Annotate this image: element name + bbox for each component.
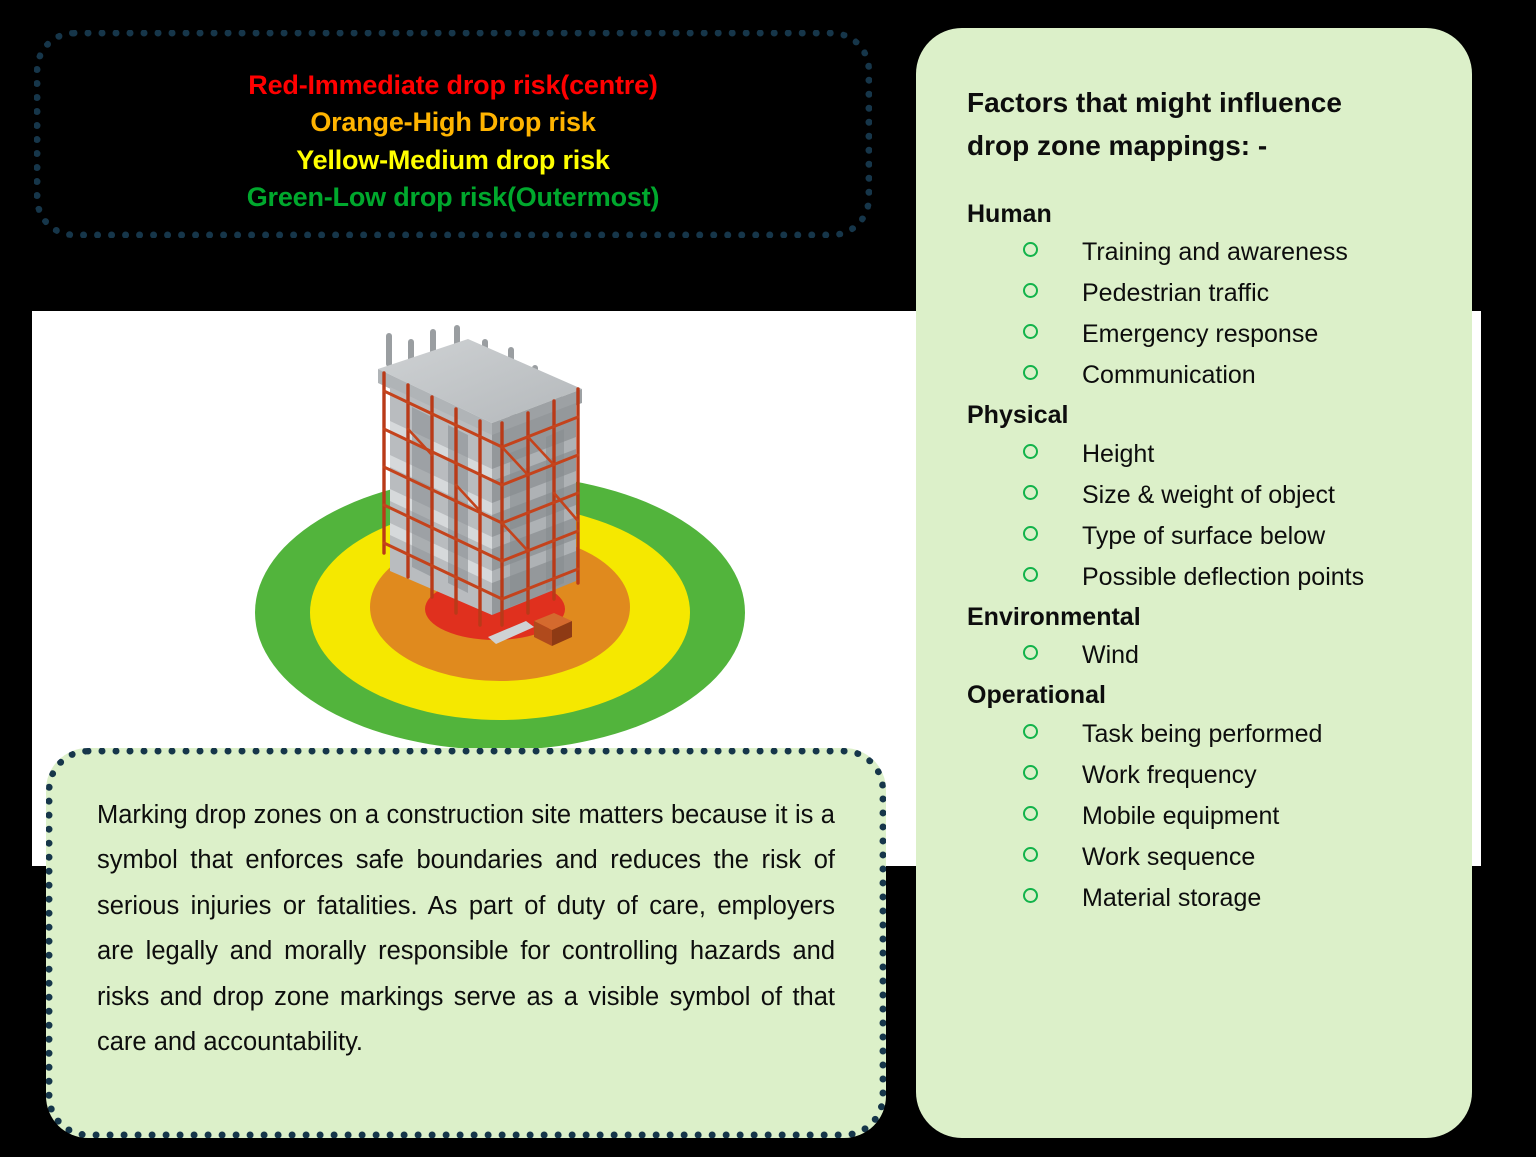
circle-bullet-icon [1023, 765, 1038, 780]
list-item-label: Task being performed [1082, 715, 1412, 753]
factor-list-human: Training and awareness Pedestrian traffi… [967, 233, 1439, 394]
list-item-label: Height [1082, 435, 1412, 473]
list-item: Pedestrian traffic [967, 274, 1439, 312]
list-item-label: Material storage [1082, 879, 1412, 917]
circle-bullet-icon [1023, 242, 1038, 257]
list-item: Material storage [967, 879, 1439, 917]
circle-bullet-icon [1023, 724, 1038, 739]
list-item: Training and awareness [967, 233, 1439, 271]
circle-bullet-icon [1023, 847, 1038, 862]
list-item: Size & weight of object [967, 476, 1439, 514]
factor-list-physical: Height Size & weight of object Type of s… [967, 435, 1439, 596]
factor-list-environmental: Wind [967, 636, 1439, 674]
legend-line-red: Red-Immediate drop risk(centre) [248, 67, 657, 104]
list-item: Emergency response [967, 315, 1439, 353]
list-item-label: Work frequency [1082, 756, 1412, 794]
list-item-label: Possible deflection points [1082, 558, 1412, 596]
circle-bullet-icon [1023, 485, 1038, 500]
factor-group-heading-environmental: Environmental [967, 599, 1439, 637]
why-marking-matters-text: Marking drop zones on a construction sit… [97, 793, 835, 1065]
list-item: Work frequency [967, 756, 1439, 794]
list-item-label: Work sequence [1082, 838, 1412, 876]
circle-bullet-icon [1023, 283, 1038, 298]
risk-colour-legend: Red-Immediate drop risk(centre) Orange-H… [34, 30, 872, 238]
why-marking-matters-card: Marking drop zones on a construction sit… [46, 748, 886, 1138]
factors-card-title: Factors that might influence drop zone m… [967, 81, 1397, 168]
circle-bullet-icon [1023, 645, 1038, 660]
list-item: Height [967, 435, 1439, 473]
factor-list-operational: Task being performed Work frequency Mobi… [967, 715, 1439, 917]
list-item-label: Mobile equipment [1082, 797, 1412, 835]
list-item: Mobile equipment [967, 797, 1439, 835]
circle-bullet-icon [1023, 444, 1038, 459]
influencing-factors-card: Factors that might influence drop zone m… [916, 28, 1472, 1138]
list-item-label: Communication [1082, 356, 1412, 394]
list-item: Type of surface below [967, 517, 1439, 555]
list-item-label: Size & weight of object [1082, 476, 1412, 514]
circle-bullet-icon [1023, 888, 1038, 903]
legend-line-yellow: Yellow-Medium drop risk [296, 142, 609, 179]
circle-bullet-icon [1023, 324, 1038, 339]
list-item-label: Wind [1082, 636, 1412, 674]
drop-zone-illustration [180, 325, 780, 755]
list-item: Task being performed [967, 715, 1439, 753]
list-item: Wind [967, 636, 1439, 674]
list-item-label: Training and awareness [1082, 233, 1412, 271]
circle-bullet-icon [1023, 567, 1038, 582]
factor-group-heading-operational: Operational [967, 677, 1439, 715]
list-item-label: Pedestrian traffic [1082, 274, 1412, 312]
factor-group-heading-physical: Physical [967, 397, 1439, 435]
list-item-label: Type of surface below [1082, 517, 1412, 555]
list-item: Communication [967, 356, 1439, 394]
list-item-label: Emergency response [1082, 315, 1412, 353]
list-item: Work sequence [967, 838, 1439, 876]
circle-bullet-icon [1023, 526, 1038, 541]
construction-building-graphic [350, 325, 610, 655]
legend-line-orange: Orange-High Drop risk [310, 104, 595, 141]
list-item: Possible deflection points [967, 558, 1439, 596]
factor-group-heading-human: Human [967, 196, 1439, 234]
legend-line-green: Green-Low drop risk(Outermost) [247, 179, 660, 216]
circle-bullet-icon [1023, 365, 1038, 380]
circle-bullet-icon [1023, 806, 1038, 821]
